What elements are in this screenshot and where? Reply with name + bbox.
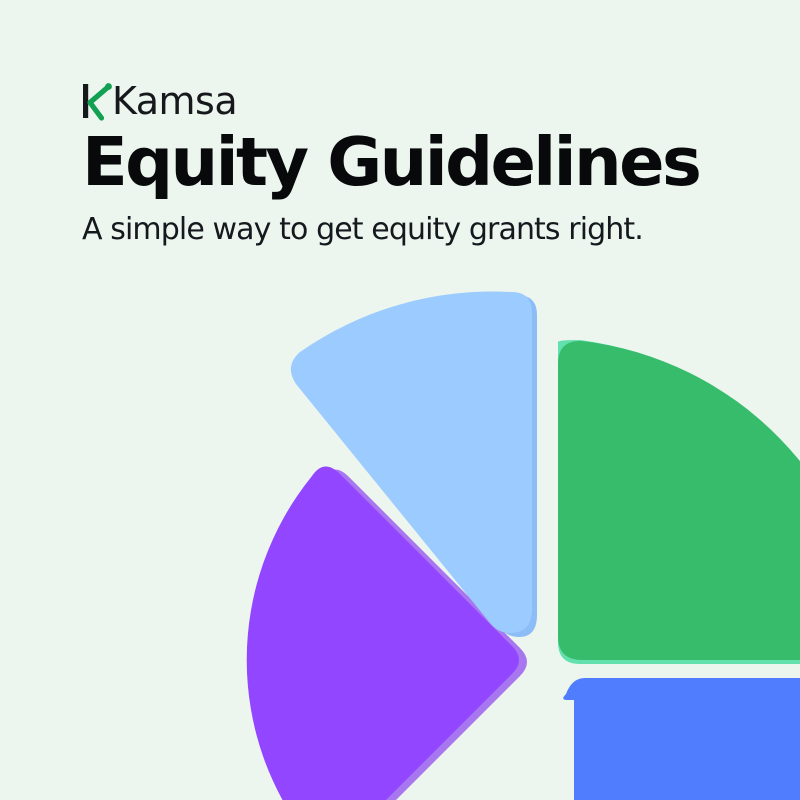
poster-header: Kamsa Equity Guidelines A simple way to …: [82, 76, 742, 248]
pie-slice-blue: [563, 678, 800, 800]
brand-logo-text: Kamsa: [112, 80, 237, 122]
brand-logo: Kamsa: [82, 76, 742, 122]
poster-canvas: Kamsa Equity Guidelines A simple way to …: [0, 0, 800, 800]
pie-slice-green: [558, 341, 800, 660]
page-title: Equity Guidelines: [82, 128, 742, 198]
kamsa-k-mark-icon: [82, 80, 116, 122]
page-subtitle: A simple way to get equity grants right.: [82, 212, 742, 248]
